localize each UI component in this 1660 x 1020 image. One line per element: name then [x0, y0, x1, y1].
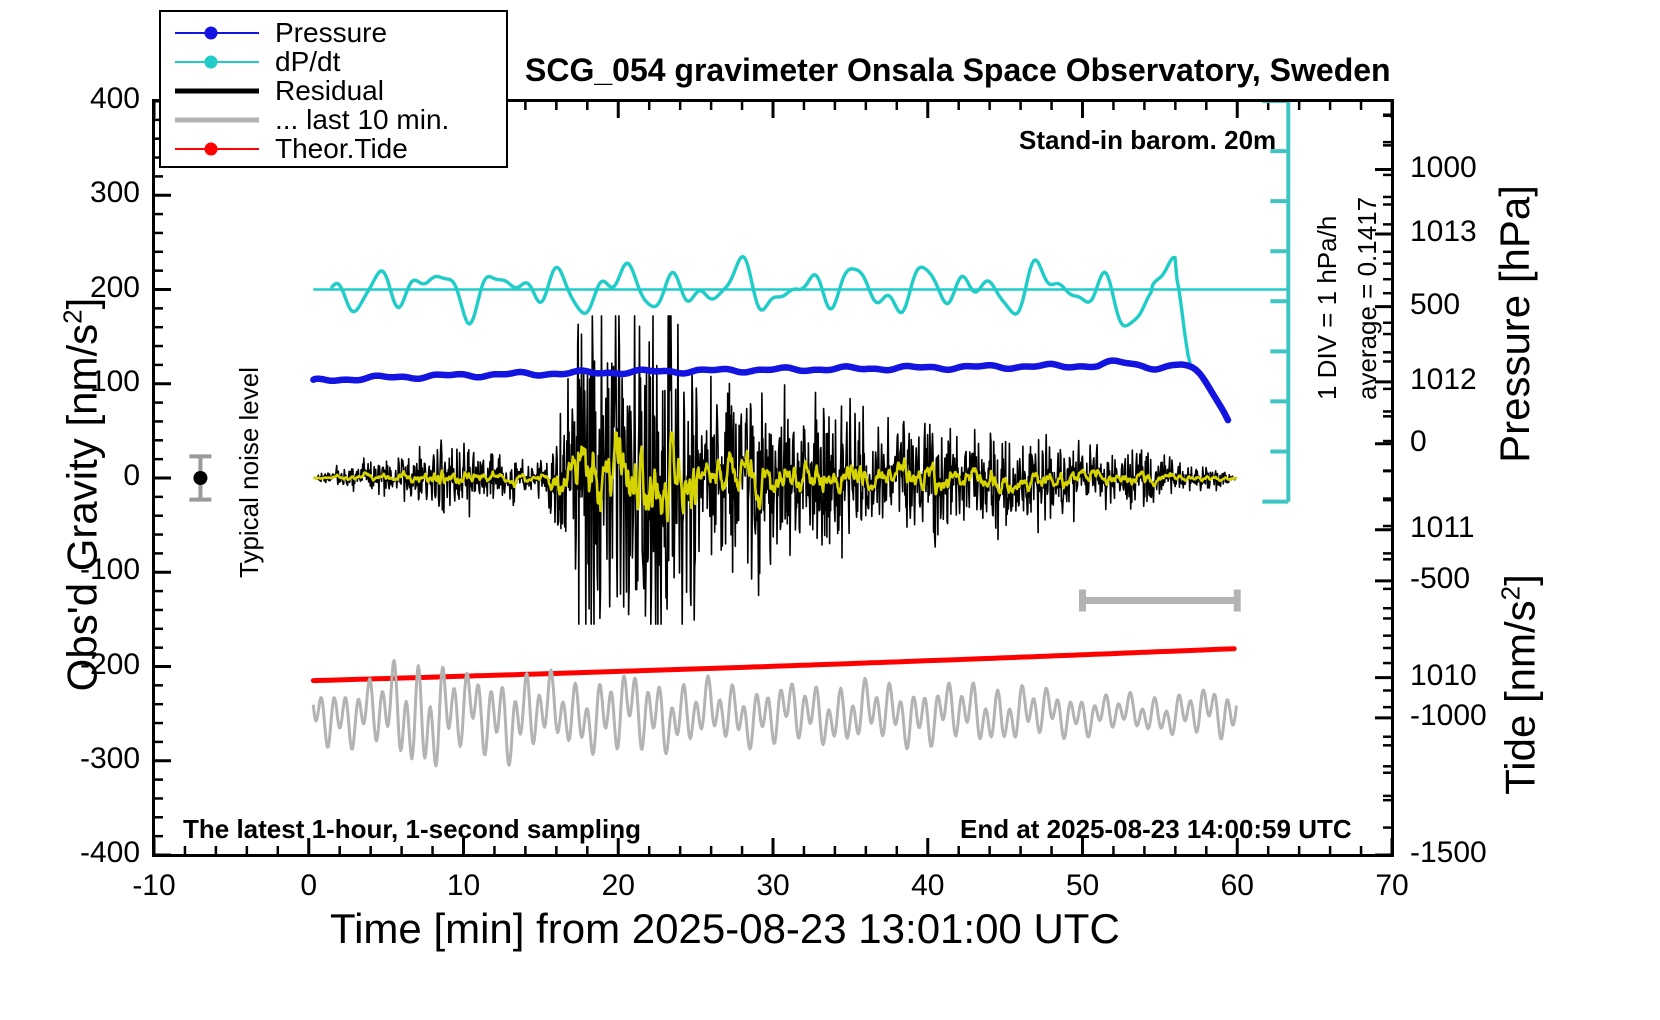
- axis-tick-label: -1000: [1410, 701, 1487, 731]
- axis-tick-label: 1000: [1410, 153, 1477, 183]
- annotation-scale-average: average = 0.1417: [1352, 197, 1383, 400]
- y-axis-label-tide: Tide [nm/s2]: [1496, 485, 1545, 885]
- legend-item[interactable]: Residual: [161, 76, 506, 105]
- legend-label-pressure: Pressure: [259, 17, 387, 49]
- annotation-end-time: End at 2025-08-23 14:00:59 UTC: [960, 814, 1352, 845]
- axis-tick-label: 500: [1410, 290, 1460, 320]
- axis-tick-label: 0: [1410, 427, 1427, 457]
- axis-tick-label: 200: [40, 273, 140, 303]
- legend-item[interactable]: dP/dt: [161, 47, 506, 76]
- legend-item[interactable]: Pressure: [161, 18, 506, 47]
- axis-tick-label: 300: [40, 178, 140, 208]
- legend-swatch-residual: [175, 79, 259, 103]
- axis-tick-label: -300: [40, 744, 140, 774]
- axis-tick-label: 400: [40, 84, 140, 114]
- axis-tick-label: 1012: [1410, 365, 1477, 395]
- axis-tick-label: -400: [40, 838, 140, 868]
- axis-tick-label: -200: [40, 650, 140, 680]
- axis-tick-label: 1010: [1410, 661, 1477, 691]
- axis-tick-label: 30: [713, 871, 833, 901]
- legend-item[interactable]: Theor.Tide: [161, 134, 506, 163]
- annotation-stand-in-barometer: Stand-in barom. 20m: [1019, 125, 1276, 156]
- axis-tick-label: 1013: [1410, 217, 1477, 247]
- axis-tick-label: 70: [1332, 871, 1452, 901]
- x-axis-label: Time [min] from 2025-08-23 13:01:00 UTC: [330, 905, 1120, 953]
- annotation-sampling-note: The latest 1-hour, 1-second sampling: [183, 814, 641, 845]
- axis-tick-label: 0: [249, 871, 369, 901]
- legend-label-tide: Theor.Tide: [259, 133, 408, 165]
- legend-item[interactable]: ... last 10 min.: [161, 105, 506, 134]
- legend-swatch-tide: [175, 137, 259, 161]
- axis-tick-label: 50: [1023, 871, 1143, 901]
- axis-tick-label: -1500: [1410, 838, 1487, 868]
- chart-title: SCG_054 gravimeter Onsala Space Observat…: [525, 52, 1391, 89]
- axis-tick-label: -10: [94, 871, 214, 901]
- axis-tick-label: 40: [868, 871, 988, 901]
- legend-label-residual: Residual: [259, 75, 384, 107]
- axis-tick-label: 1011: [1410, 513, 1475, 543]
- legend-swatch-pressure: [175, 21, 259, 45]
- legend-swatch-dpdt: [175, 50, 259, 74]
- legend-label-last10: ... last 10 min.: [259, 104, 449, 136]
- chart-legend: Pressure dP/dt Residual ... last 10 min.…: [159, 10, 508, 168]
- axis-tick-label: 10: [404, 871, 524, 901]
- legend-swatch-last10: [175, 108, 259, 132]
- axis-tick-label: 60: [1177, 871, 1297, 901]
- plot-frame: [152, 99, 1394, 857]
- axis-tick-label: 100: [40, 367, 140, 397]
- axis-tick-label: 20: [558, 871, 678, 901]
- y-axis-label-pressure: Pressure [hPa]: [1491, 114, 1539, 534]
- axis-tick-label: -100: [40, 555, 140, 585]
- axis-tick-label: -500: [1410, 564, 1470, 594]
- annotation-scale-divider: 1 DIV = 1 hPa/h: [1312, 216, 1343, 400]
- axis-tick-label: 0: [40, 461, 140, 491]
- annotation-typical-noise-level: Typical noise level: [234, 367, 265, 578]
- legend-label-dpdt: dP/dt: [259, 46, 340, 78]
